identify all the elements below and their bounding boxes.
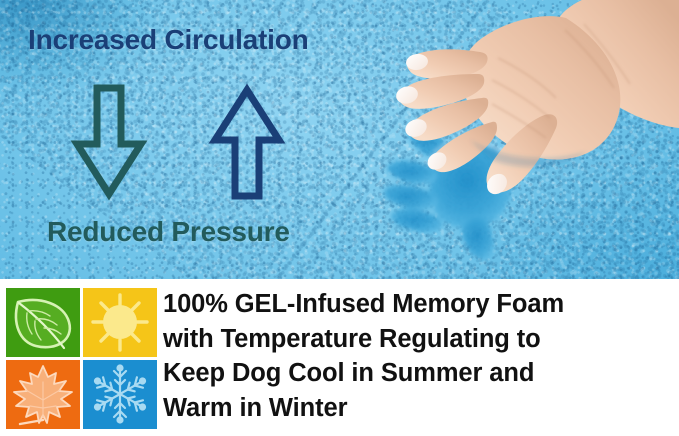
memory-foam-photo: Increased Circulation Reduced Pressure — [0, 0, 679, 279]
season-icon-grid — [6, 288, 157, 430]
heading-reduced-pressure: Reduced Pressure — [47, 216, 290, 248]
arrow-up-icon — [208, 82, 286, 207]
leaf-icon — [6, 288, 80, 357]
product-description-text: 100% GEL-Infused Memory Foam with Temper… — [163, 287, 673, 425]
arrow-down-icon — [70, 82, 148, 207]
description-line-2: with Temperature Regulating to — [163, 322, 673, 357]
description-line-4: Warm in Winter — [163, 391, 673, 426]
heading-increased-circulation: Increased Circulation — [28, 24, 309, 56]
description-line-1: 100% GEL-Infused Memory Foam — [163, 287, 673, 322]
product-description-panel: 100% GEL-Infused Memory Foam with Temper… — [0, 279, 679, 436]
maple-leaf-icon — [6, 360, 80, 429]
product-feature-graphic: Increased Circulation Reduced Pressure — [0, 0, 679, 436]
description-line-3: Keep Dog Cool in Summer and — [163, 356, 673, 391]
sun-icon — [83, 288, 157, 357]
snowflake-icon — [83, 360, 157, 429]
